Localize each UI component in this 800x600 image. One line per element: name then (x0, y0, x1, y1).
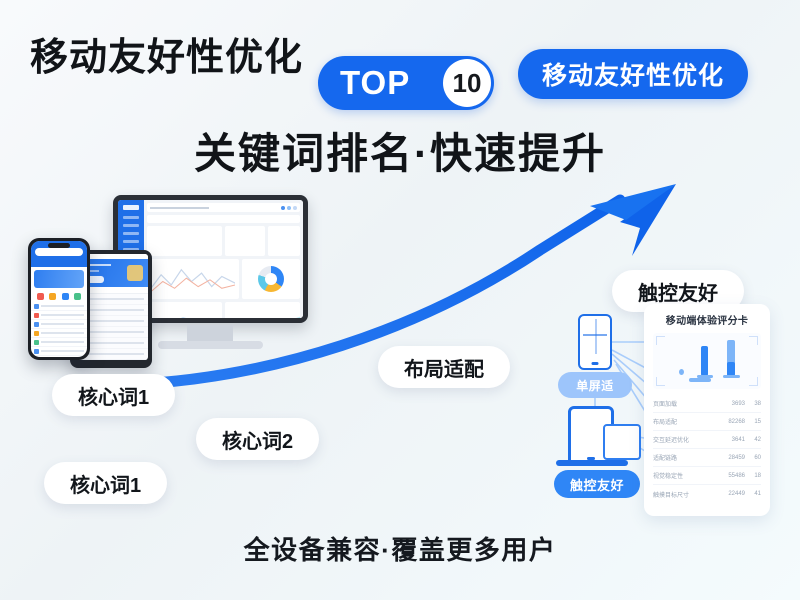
diagram-laptop-base (556, 460, 628, 466)
row-value: 55486 (719, 473, 745, 479)
top-badge-number: 10 (443, 59, 491, 107)
device-mockups (28, 190, 338, 380)
row-value: 28459 (719, 455, 745, 461)
row-extra: 18 (745, 473, 761, 479)
dashboard-content (144, 200, 303, 318)
list-item (31, 329, 87, 338)
phone-notch (48, 243, 70, 248)
diagram-pill-solid: 触控友好 (554, 470, 640, 498)
dashboard-linechart (147, 259, 239, 299)
row-value: 22449 (719, 491, 745, 497)
row-label: 布局适配 (653, 417, 719, 426)
dashboard-donutchart (242, 259, 300, 299)
footer-tagline: 全设备兼容·覆盖更多用户 (0, 530, 800, 567)
table-row: 触摸目标尺寸 22449 41 (653, 485, 761, 503)
list-item (31, 320, 87, 329)
dashboard-tabs (147, 215, 300, 223)
row-label: 页面加载 (653, 399, 719, 408)
table-row: 视觉稳定性 55486 18 (653, 467, 761, 485)
keyword-pill-layout[interactable]: 布局适配 (378, 346, 510, 388)
top-rank-badge: TOP 10 (318, 56, 494, 110)
row-value: 82268 (719, 419, 745, 425)
list-item (31, 311, 87, 320)
dashboard-topbar (147, 203, 300, 212)
diagram-pill-light: 单屏适 (558, 372, 632, 398)
row-extra: 60 (745, 455, 761, 461)
row-label: 视觉稳定性 (653, 471, 719, 480)
table-row: 页面加载 3693 38 (653, 395, 761, 413)
top-badge-label: TOP (340, 64, 410, 102)
keyword-pill-3[interactable]: 核心词1 (44, 462, 167, 504)
row-value: 3693 (719, 401, 745, 407)
list-item (31, 302, 87, 311)
score-card-chart (653, 333, 761, 389)
dashboard-card (225, 226, 264, 256)
table-row: 适配链路 28459 60 (653, 449, 761, 467)
header-tag-pill: 移动友好性优化 (518, 49, 748, 99)
phone-promo-card (34, 270, 84, 288)
list-item (31, 347, 87, 356)
phone-screen (31, 241, 87, 357)
keyword-pill-1[interactable]: 核心词1 (52, 374, 175, 416)
row-label: 适配链路 (653, 453, 719, 462)
dashboard-card (147, 226, 222, 256)
list-item (31, 356, 87, 357)
keyword-pill-2[interactable]: 核心词2 (196, 418, 319, 460)
poster-canvas: 移动友好性优化 TOP 10 移动友好性优化 关键词排名·快速提升 (0, 0, 800, 600)
row-extra: 38 (745, 401, 761, 407)
row-extra: 42 (745, 437, 761, 443)
page-title: 移动友好性优化 (30, 26, 303, 81)
row-extra: 15 (745, 419, 761, 425)
donut-icon (258, 266, 284, 292)
page-subtitle: 关键词排名·快速提升 (0, 120, 800, 181)
dashboard-card (268, 226, 300, 256)
diagram-phone-icon (578, 314, 612, 370)
diagram-laptop-icon (603, 424, 641, 460)
row-value: 3641 (719, 437, 745, 443)
list-item (31, 338, 87, 347)
dashboard-logo (123, 205, 139, 210)
dashboard-areachart (225, 302, 300, 318)
row-label: 交互延迟优化 (653, 435, 719, 444)
search-field-mock (35, 248, 83, 256)
row-extra: 41 (745, 491, 761, 497)
table-row: 布局适配 82268 15 (653, 413, 761, 431)
phone-quick-icons (31, 291, 87, 302)
dashboard-areachart (147, 302, 222, 318)
phone-frame (28, 238, 90, 360)
monitor-base (158, 341, 263, 349)
score-card-panel: 移动端体验评分卡 页面加载 3693 38 布局适配 82268 15 (644, 304, 770, 516)
table-row: 交互延迟优化 3641 42 (653, 431, 761, 449)
score-card-title: 移动端体验评分卡 (653, 312, 761, 327)
row-label: 触摸目标尺寸 (653, 490, 719, 499)
device-connection-diagram: 单屏适 触控友好 移动端体验评分卡 页面加载 3693 38 (548, 302, 772, 520)
smartphone-mockup (28, 238, 90, 360)
